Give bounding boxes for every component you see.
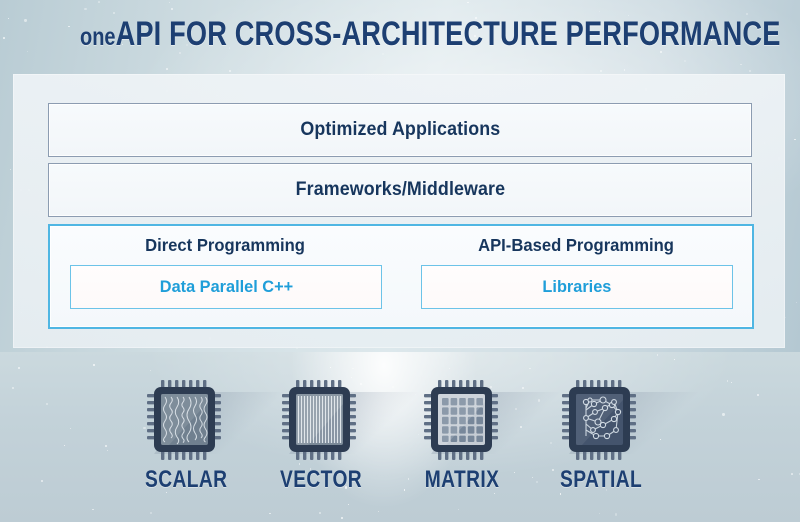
chip-vector-icon xyxy=(282,378,358,462)
column-heading: Direct Programming xyxy=(59,235,392,256)
chip-scalar-icon xyxy=(147,378,223,462)
layer-label: Frameworks/Middleware xyxy=(295,179,504,201)
title-prefix: one xyxy=(80,23,116,51)
item-data-parallel-cpp[interactable]: Data Parallel C++ xyxy=(70,265,382,309)
oneapi-stack-panel: Optimized Applications Frameworks/Middle… xyxy=(13,74,785,348)
item-libraries[interactable]: Libraries xyxy=(421,265,733,309)
column-direct-programming: Direct Programming Data Parallel C++ xyxy=(50,226,400,327)
architecture-label: SPATIAL xyxy=(560,466,640,494)
layer-optimized-applications[interactable]: Optimized Applications xyxy=(48,103,752,157)
slide-canvas: oneAPI FOR CROSS-ARCHITECTURE PERFORMANC… xyxy=(0,0,800,522)
programming-models-container: Direct Programming Data Parallel C++ API… xyxy=(48,224,754,329)
architecture-label: MATRIX xyxy=(422,466,502,494)
architecture-label: SCALAR xyxy=(145,466,225,494)
chip-matrix-icon xyxy=(424,378,500,462)
column-api-based-programming: API-Based Programming Libraries xyxy=(401,226,751,327)
column-heading: API-Based Programming xyxy=(410,235,743,256)
chip-spatial-icon xyxy=(562,378,638,462)
layer-label: Optimized Applications xyxy=(300,119,500,141)
layer-frameworks-middleware[interactable]: Frameworks/Middleware xyxy=(48,163,752,217)
background-lower xyxy=(0,352,800,522)
title-main: API FOR CROSS-ARCHITECTURE PERFORMANCE xyxy=(116,15,781,53)
item-label: Libraries xyxy=(543,277,612,297)
page-title: oneAPI FOR CROSS-ARCHITECTURE PERFORMANC… xyxy=(80,14,720,57)
architecture-label: VECTOR xyxy=(280,466,360,494)
item-label: Data Parallel C++ xyxy=(159,277,292,297)
